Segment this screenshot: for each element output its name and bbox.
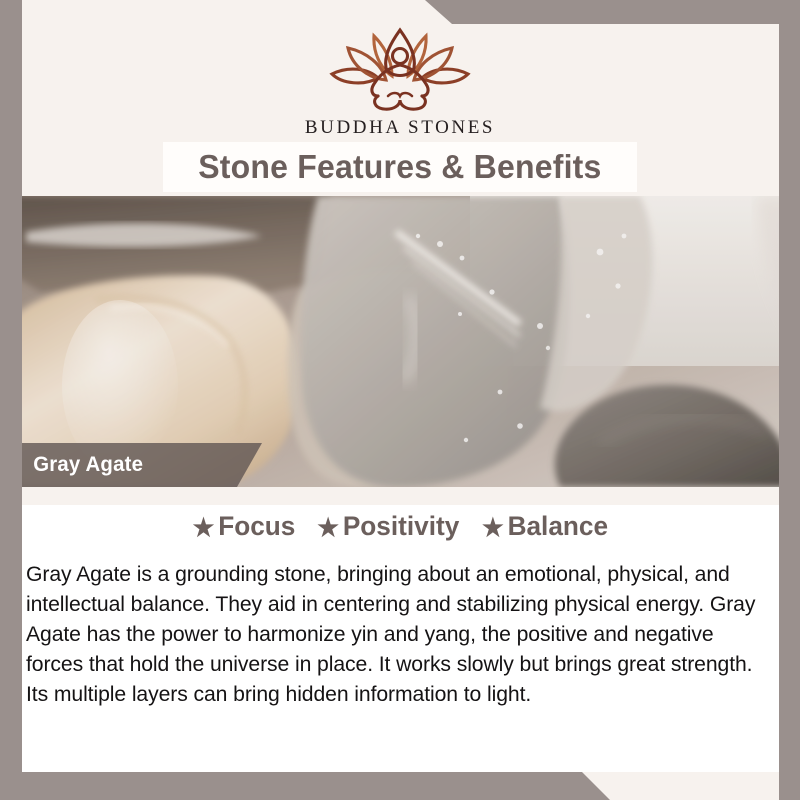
keyword-balance-label: Balance xyxy=(507,511,607,541)
stone-description: Gray Agate is a grounding stone, bringin… xyxy=(26,559,767,709)
poster-header: BUDDHA STONES Stone Features & Benefits xyxy=(0,0,800,196)
benefit-keywords: ★Focus★Positivity★Balance xyxy=(22,511,779,543)
poster-content: ★Focus★Positivity★Balance Gray Agate is … xyxy=(22,487,779,772)
star-icon: ★ xyxy=(482,513,504,543)
star-icon: ★ xyxy=(193,513,215,543)
stone-name-badge: Gray Agate xyxy=(0,443,262,487)
page-title: Stone Features & Benefits xyxy=(198,148,601,186)
brand-name: BUDDHA STONES xyxy=(0,117,800,139)
keyword-balance: ★Balance xyxy=(482,511,608,543)
lotus-meditation-icon xyxy=(326,26,474,112)
frame-left-border xyxy=(0,0,22,800)
keyword-focus: ★Focus xyxy=(193,511,296,543)
keyword-positivity: ★Positivity xyxy=(317,511,459,543)
brand-logo-block: BUDDHA STONES xyxy=(0,26,800,139)
stone-benefits-poster: BUDDHA STONES Stone Features & Benefits xyxy=(0,0,800,800)
stone-photo: Gray Agate xyxy=(0,196,800,487)
content-top-strip xyxy=(22,487,779,505)
keyword-positivity-label: Positivity xyxy=(343,511,459,541)
title-plaque: Stone Features & Benefits xyxy=(163,142,637,192)
star-icon: ★ xyxy=(317,513,339,543)
keyword-focus-label: Focus xyxy=(219,511,296,541)
frame-right-border xyxy=(779,0,800,800)
corner-wedge-bottom-left xyxy=(0,772,800,800)
stone-name-label: Gray Agate xyxy=(2,453,143,477)
